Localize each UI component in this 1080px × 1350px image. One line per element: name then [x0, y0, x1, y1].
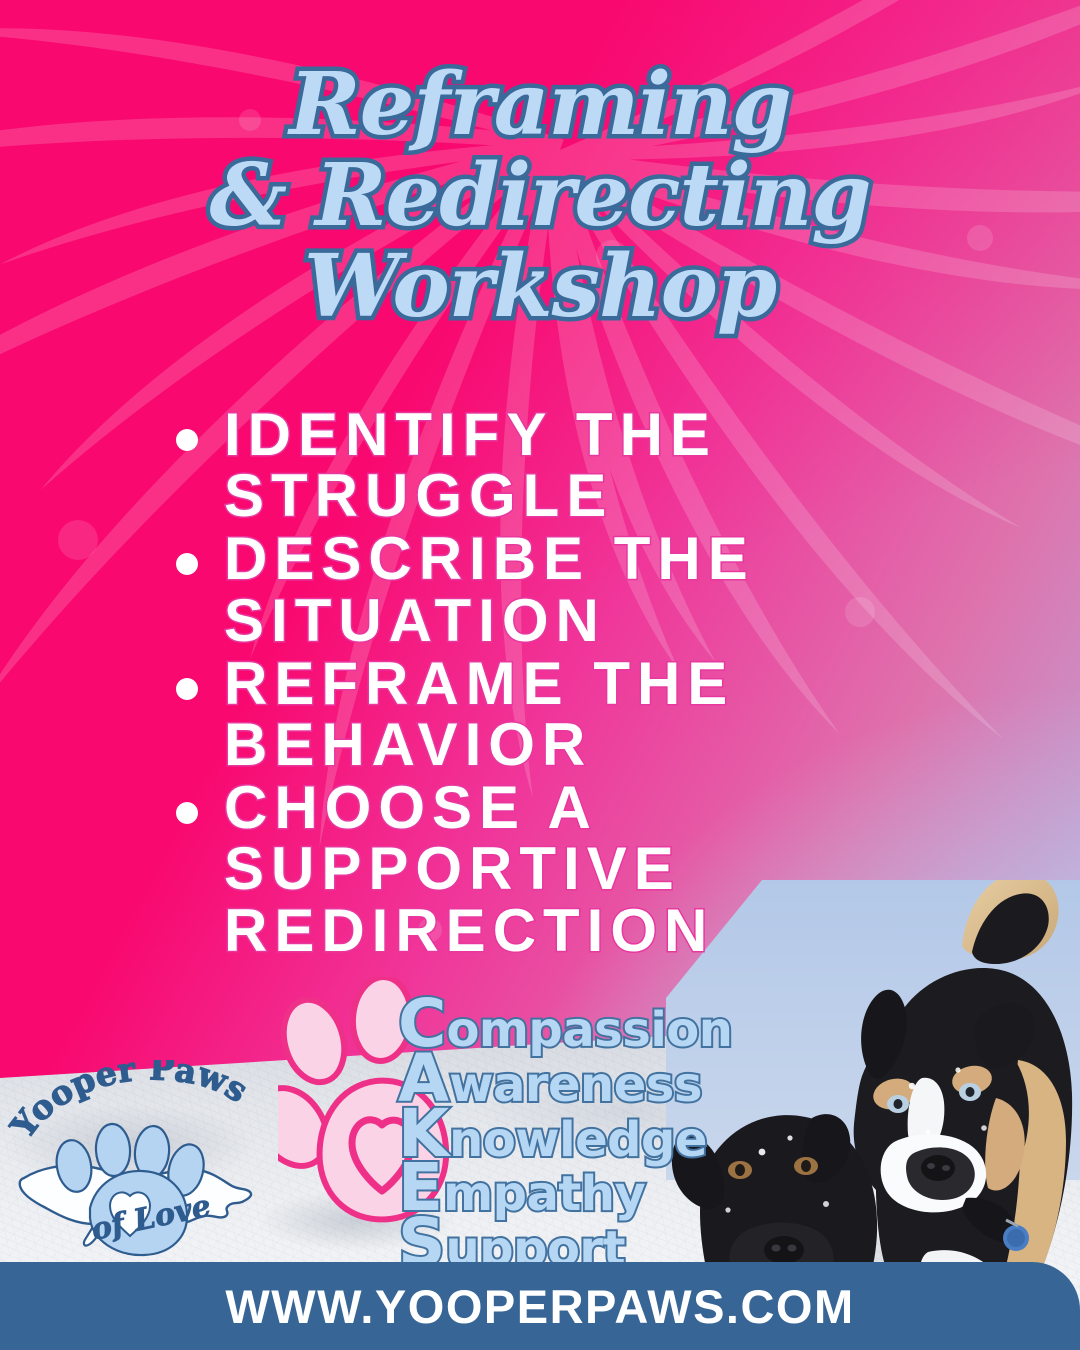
poster-title: Reframing & Redirecting Workshop — [0, 62, 1080, 329]
list-item-label: Choose a supportive redirection — [224, 777, 958, 961]
cakes-word-knowledge: nowledge — [449, 1120, 707, 1161]
cakes-row-empathy: E mpathy — [398, 1160, 732, 1217]
website-url[interactable]: WWW.YOOPERPAWS.COM — [225, 1279, 854, 1334]
list-item-label: Describe the situation — [224, 528, 958, 650]
title-line-1: Reframing — [0, 62, 1080, 147]
list-item-label: Reframe the behavior — [224, 653, 958, 775]
cakes-acronym: C ompassion A wareness K nowledge E mpat… — [398, 996, 732, 1270]
workshop-steps-list: Identify the struggle Describe the situa… — [168, 404, 958, 963]
yooper-paws-logo: Yooper Paws of Love — [6, 1060, 274, 1268]
cakes-row-knowledge: K nowledge — [398, 1106, 732, 1163]
list-item: Reframe the behavior — [168, 653, 958, 775]
cakes-word-compassion: ompassion — [446, 1010, 732, 1051]
title-line-2: & Redirecting — [0, 153, 1080, 238]
list-item: Describe the situation — [168, 528, 958, 650]
title-line-3: Workshop — [0, 244, 1080, 329]
cakes-word-awareness: wareness — [449, 1065, 702, 1106]
list-item-label: Identify the struggle — [224, 404, 958, 526]
bullet-dot-icon — [176, 553, 198, 575]
website-footer-bar: WWW.YOOPERPAWS.COM — [0, 1262, 1080, 1350]
poster-canvas: Reframing & Redirecting Workshop Identif… — [0, 0, 1080, 1350]
logo-top-text: Yooper Paws — [6, 1060, 255, 1146]
list-item: Identify the struggle — [168, 404, 958, 526]
bullet-dot-icon — [176, 802, 198, 824]
list-item: Choose a supportive redirection — [168, 777, 958, 961]
logo-top-textpath: Yooper Paws — [6, 1060, 255, 1146]
bullet-dot-icon — [176, 678, 198, 700]
cakes-word-empathy: mpathy — [443, 1174, 645, 1215]
bullet-dot-icon — [176, 429, 198, 451]
